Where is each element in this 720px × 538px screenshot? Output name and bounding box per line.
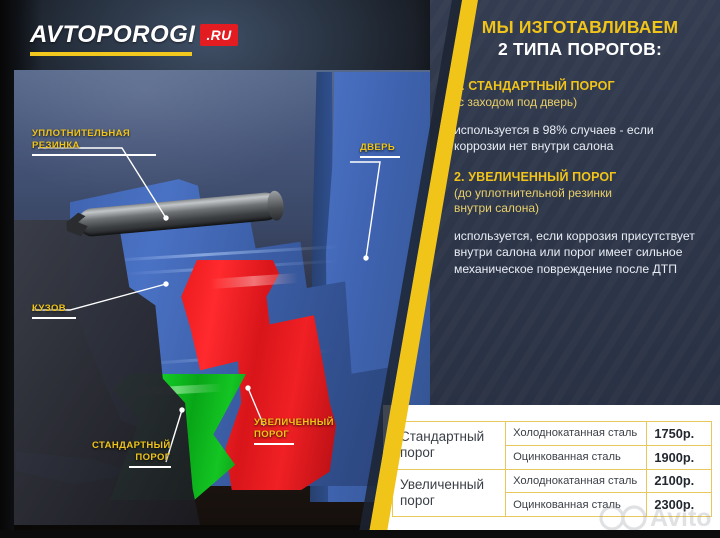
price-type-standard: Стандартный порог <box>393 422 506 470</box>
section-standard-subtitle: (с заходом под дверь) <box>454 95 706 111</box>
section-extended-subtitle-line2: внутри салона) <box>454 201 706 217</box>
headline: МЫ ИЗГОТАВЛИВАЕМ 2 ТИПА ПОРОГОВ: <box>454 16 706 60</box>
price-value: 1750р. <box>647 422 712 446</box>
label-extended-sill: УВЕЛИЧЕННЫЙ ПОРОГ <box>254 417 334 445</box>
poster-stage: УПЛОТНИТЕЛЬНАЯ РЕЗИНКА КУЗОВ ДВЕРЬ СТАНД… <box>0 0 720 538</box>
price-value: 1900р. <box>647 445 712 469</box>
price-material: Оцинкованная сталь <box>506 493 647 517</box>
section-standard: 1. СТАНДАРТНЫЙ ПОРОГ (с заходом под двер… <box>454 78 706 155</box>
label-car-body: КУЗОВ <box>32 303 76 319</box>
label-rubber-seal-line2: РЕЗИНКА <box>32 140 80 151</box>
label-car-body-text: КУЗОВ <box>32 303 66 314</box>
label-underline <box>129 466 171 468</box>
label-underline <box>32 154 156 156</box>
section-extended: 2. УВЕЛИЧЕННЫЙ ПОРОГ (до уплотнительной … <box>454 169 706 278</box>
logo-domain-badge: .RU <box>200 24 238 46</box>
section-extended-subtitle-line1: (до уплотнительной резинки <box>454 186 706 202</box>
price-value: 2300р. <box>647 493 712 517</box>
table-row: Увеличенный порог Холоднокатанная сталь … <box>393 469 712 493</box>
label-underline <box>360 156 400 158</box>
label-door: ДВЕРЬ <box>360 142 400 158</box>
label-rubber-seal: УПЛОТНИТЕЛЬНАЯ РЕЗИНКА <box>32 128 156 156</box>
site-logo[interactable]: AVTOPOROGI .RU <box>30 21 238 56</box>
info-panel-content: МЫ ИЗГОТАВЛИВАЕМ 2 ТИПА ПОРОГОВ: 1. СТАН… <box>430 0 720 277</box>
logo-row: AVTOPOROGI .RU <box>30 21 238 49</box>
price-table: Стандартный порог Холоднокатанная сталь … <box>392 421 712 517</box>
price-material: Холоднокатанная сталь <box>506 422 647 446</box>
left-black-border <box>0 0 14 538</box>
headline-line2: 2 ТИПА ПОРОГОВ: <box>454 38 706 60</box>
label-extended-sill-line1: УВЕЛИЧЕННЫЙ <box>254 417 334 428</box>
label-rubber-seal-line1: УПЛОТНИТЕЛЬНАЯ <box>32 128 130 139</box>
section-standard-body: используется в 98% случаев - если корроз… <box>454 122 706 155</box>
label-standard-sill-line2: ПОРОГ <box>135 452 170 463</box>
price-type-extended: Увеличенный порог <box>393 469 506 517</box>
label-standard-sill-line1: СТАНДАРТНЫЙ <box>92 440 171 451</box>
section-extended-body: используется, если коррозия присутствует… <box>454 228 706 278</box>
price-value: 2100р. <box>647 469 712 493</box>
bottom-border-strip <box>0 530 720 538</box>
section-standard-title: 1. СТАНДАРТНЫЙ ПОРОГ <box>454 78 706 95</box>
headline-line1: МЫ ИЗГОТАВЛИВАЕМ <box>454 16 706 38</box>
section-extended-title: 2. УВЕЛИЧЕННЫЙ ПОРОГ <box>454 169 706 186</box>
label-standard-sill: СТАНДАРТНЫЙ ПОРОГ <box>92 440 171 468</box>
label-underline <box>254 443 294 445</box>
label-extended-sill-line2: ПОРОГ <box>254 429 289 440</box>
price-material: Холоднокатанная сталь <box>506 469 647 493</box>
logo-brand-text: AVTOPOROGI <box>30 21 195 49</box>
table-row: Стандартный порог Холоднокатанная сталь … <box>393 422 712 446</box>
label-door-text: ДВЕРЬ <box>360 142 395 153</box>
logo-underline-bar <box>30 52 192 56</box>
price-material: Оцинкованная сталь <box>506 445 647 469</box>
label-underline <box>32 317 76 319</box>
